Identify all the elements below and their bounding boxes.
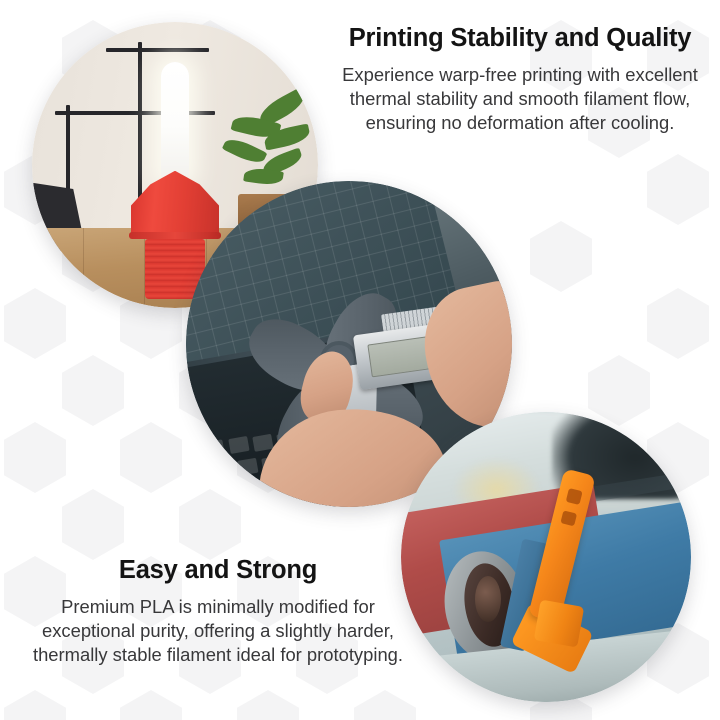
feature-body-top: Experience warp-free printing with excel… bbox=[330, 63, 710, 136]
feature-block-top: Printing Stability and Quality Experienc… bbox=[330, 24, 710, 135]
hexagon-decoration bbox=[530, 221, 592, 292]
feature-title-top: Printing Stability and Quality bbox=[330, 24, 710, 53]
orange-lever-sander-photo bbox=[401, 412, 691, 702]
hexagon-decoration bbox=[4, 422, 66, 493]
hexagon-decoration bbox=[647, 288, 709, 359]
hexagon-decoration bbox=[62, 489, 124, 560]
orange-lever-knob bbox=[534, 600, 584, 648]
shelf-rail-vertical-center bbox=[138, 42, 142, 219]
feature-block-bottom: Easy and Strong Premium PLA is minimally… bbox=[18, 556, 418, 667]
hexagon-decoration bbox=[120, 690, 182, 720]
lamp-light-tube bbox=[161, 62, 189, 179]
hexagon-decoration bbox=[237, 690, 299, 720]
photo-inner-sander bbox=[401, 412, 691, 702]
promo-banner: Printing Stability and Quality Experienc… bbox=[0, 0, 720, 720]
hexagon-decoration bbox=[120, 422, 182, 493]
shelf-rail-horizontal-lower bbox=[55, 111, 215, 115]
hexagon-decoration bbox=[62, 355, 124, 426]
hexagon-decoration bbox=[647, 154, 709, 225]
shelf-rail-horizontal-upper bbox=[106, 48, 209, 52]
feature-body-bottom: Premium PLA is minimally modified for ex… bbox=[18, 595, 418, 668]
feature-title-bottom: Easy and Strong bbox=[18, 556, 418, 585]
hexagon-decoration bbox=[4, 690, 66, 720]
sander-roller-hub bbox=[475, 576, 501, 622]
